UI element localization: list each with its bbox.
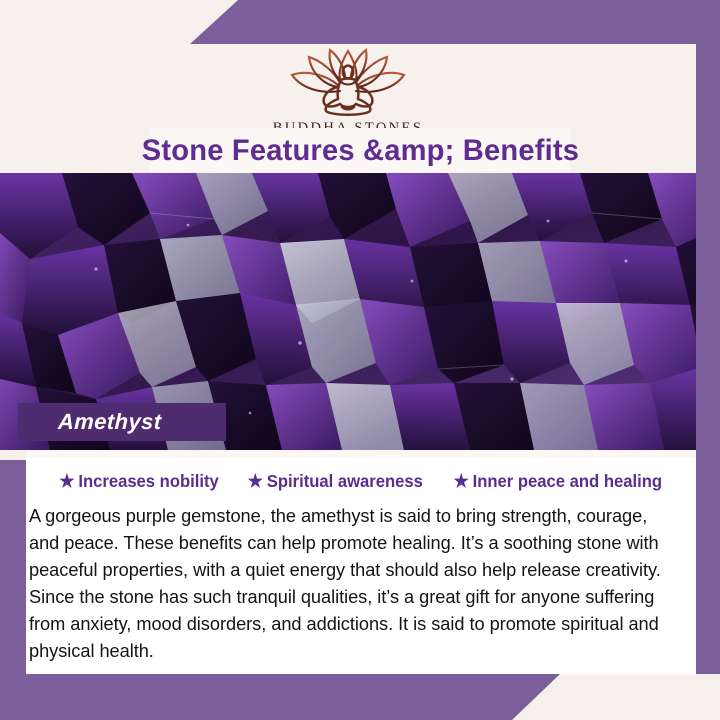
frame-bottom-accent (0, 674, 560, 720)
benefit-item: ★ Increases nobility (59, 471, 219, 492)
benefit-item: ★ Spiritual awareness (248, 471, 423, 492)
title-banner: Stone Features &amp; Benefits (150, 128, 570, 173)
stone-name-banner: Amethyst (18, 403, 226, 441)
benefit-item: ★ Inner peace and healing (453, 471, 662, 492)
star-icon: ★ (59, 472, 74, 490)
benefits-row: ★ Increases nobility ★ Spiritual awarene… (26, 464, 696, 498)
benefit-label: Inner peace and healing (472, 471, 661, 492)
benefit-label: Spiritual awareness (267, 471, 423, 492)
frame-left-accent (0, 460, 26, 720)
lotus-meditation-icon (278, 47, 418, 119)
stone-feature-poster: BUDDHA STONES Stone Features &amp; Benef… (0, 0, 720, 720)
page-title: Stone Features &amp; Benefits (141, 134, 578, 168)
star-icon: ★ (248, 472, 263, 490)
frame-top-accent (190, 0, 720, 44)
frame-right-accent (696, 0, 720, 674)
brand-logo: BUDDHA STONES (273, 47, 424, 137)
stone-description: A gorgeous purple gemstone, the amethyst… (29, 502, 680, 664)
benefit-label: Increases nobility (78, 471, 218, 492)
star-icon: ★ (453, 472, 468, 490)
stone-name: Amethyst (58, 409, 162, 435)
